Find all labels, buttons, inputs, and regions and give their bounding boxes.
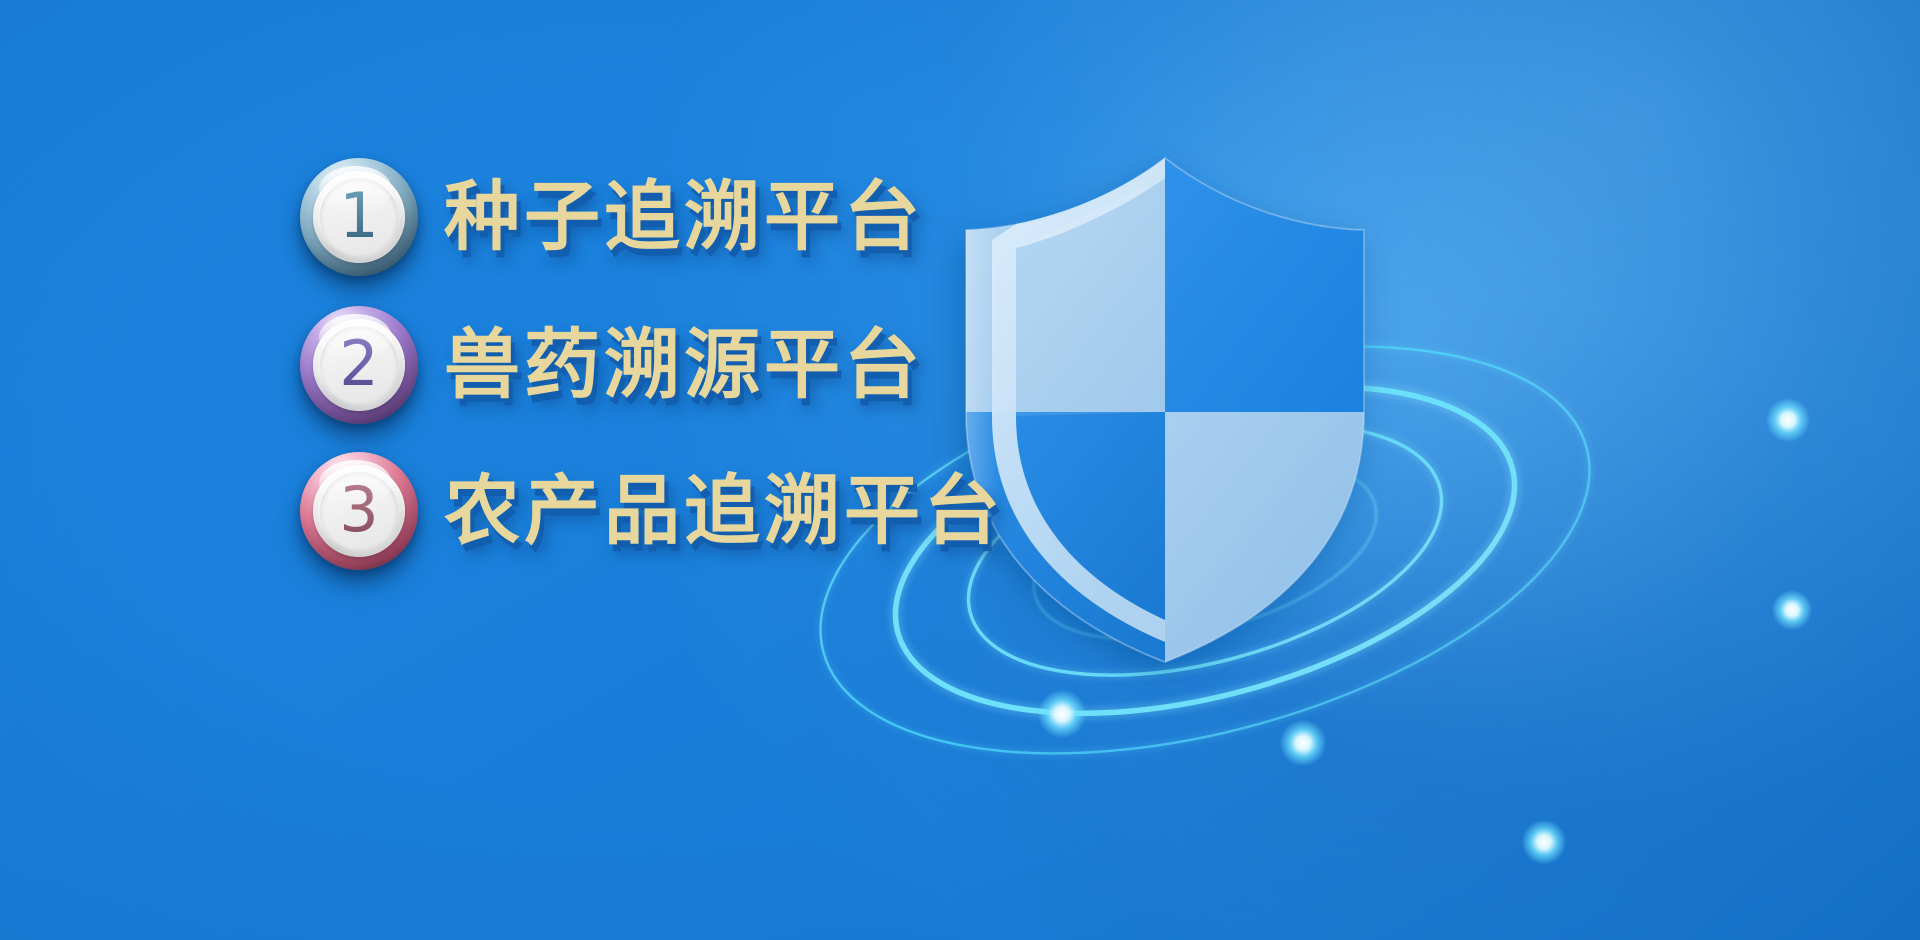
platform-label: 农产品追溯平台 xyxy=(444,473,1004,549)
badge-number: 2 xyxy=(339,333,378,395)
banner-canvas: 1 种子追溯平台 2 兽药溯源平台 3 农产品追溯平台 xyxy=(0,0,1920,940)
badge-two: 2 xyxy=(300,306,418,424)
list-item[interactable]: 2 兽药溯源平台 xyxy=(300,306,924,424)
badge-number: 3 xyxy=(339,479,378,541)
badge-number: 1 xyxy=(339,185,378,247)
security-shield xyxy=(930,150,1400,670)
platform-label: 兽药溯源平台 xyxy=(444,327,924,403)
list-item[interactable]: 3 农产品追溯平台 xyxy=(300,452,1004,570)
badge-one: 1 xyxy=(300,158,418,276)
badge-three: 3 xyxy=(300,452,418,570)
platform-label: 种子追溯平台 xyxy=(444,179,924,255)
platform-list: 1 种子追溯平台 2 兽药溯源平台 3 农产品追溯平台 xyxy=(0,0,1000,940)
list-item[interactable]: 1 种子追溯平台 xyxy=(300,158,924,276)
